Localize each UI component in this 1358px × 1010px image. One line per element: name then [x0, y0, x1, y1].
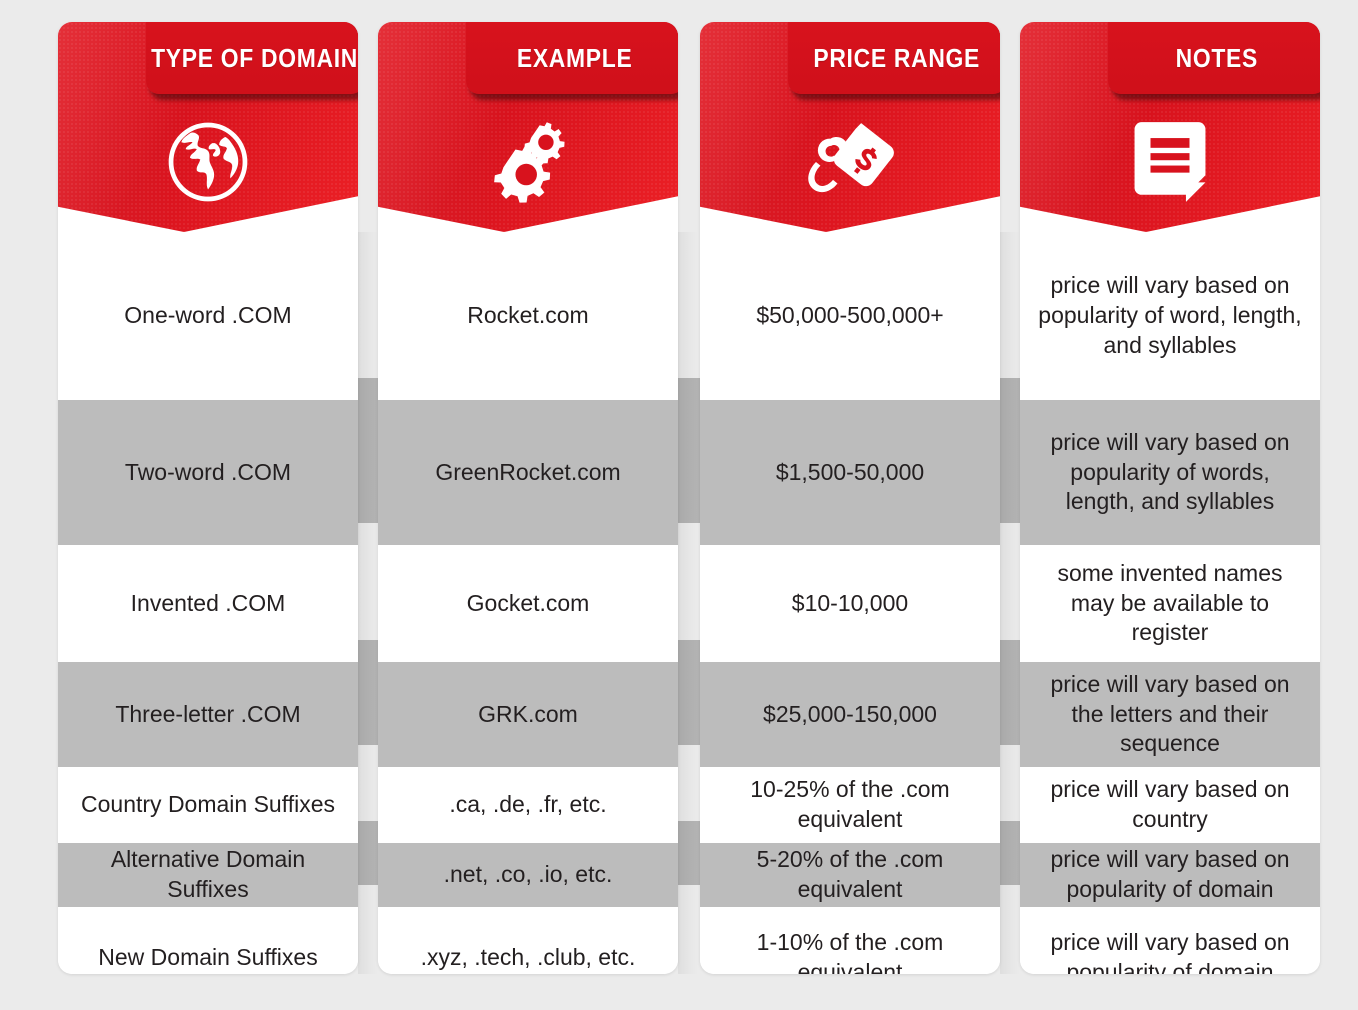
table-cell: Alternative Domain Suffixes — [58, 843, 358, 907]
table-cell: price will vary based on the letters and… — [1020, 662, 1320, 767]
column-cells-price-range: $50,000-500,000+ $1,500-50,000 $10-10,00… — [700, 232, 1000, 974]
table-cell: Country Domain Suffixes — [58, 767, 358, 843]
column-header-label: PRICE RANGE — [814, 43, 981, 74]
table-cell: price will vary based on popularity of w… — [1020, 232, 1320, 400]
column-notes: NOTES price will vary based on popularit… — [1020, 22, 1320, 974]
table-cell: $1,500-50,000 — [700, 400, 1000, 545]
table-cell: 10-25% of the .com equivalent — [700, 767, 1000, 843]
table-cell: price will vary based on popularity of d… — [1020, 907, 1320, 974]
column-cells-type-of-domain: One-word .COM Two-word .COM Invented .CO… — [58, 232, 358, 974]
column-price-range: PRICE RANGE $50,000-500,000+ $ — [700, 22, 1000, 974]
gears-icon — [378, 114, 678, 210]
table-cell: GRK.com — [378, 662, 678, 767]
table-cell: $10-10,000 — [700, 545, 1000, 662]
table-cell: .ca, .de, .fr, etc. — [378, 767, 678, 843]
table-cell: some invented names may be available to … — [1020, 545, 1320, 662]
table-cell: price will vary based on popularity of w… — [1020, 400, 1320, 545]
header-tab-notes: NOTES — [1108, 22, 1320, 94]
table-cell: price will vary based on country — [1020, 767, 1320, 843]
column-type-of-domain: TYPE OF DOMAIN One-word .COM Two-word .C… — [58, 22, 358, 974]
column-header-price-range: PRICE RANGE — [700, 22, 1000, 232]
table-cell: $50,000-500,000+ — [700, 232, 1000, 400]
table-cell: $25,000-150,000 — [700, 662, 1000, 767]
header-tab-type-of-domain: TYPE OF DOMAIN — [146, 22, 358, 94]
table-cell: Gocket.com — [378, 545, 678, 662]
table-cell: .net, .co, .io, etc. — [378, 843, 678, 907]
table-cell: New Domain Suffixes — [58, 907, 358, 974]
column-header-example: EXAMPLE — [378, 22, 678, 232]
table-cell: Invented .COM — [58, 545, 358, 662]
price-tag-dollar-icon — [700, 114, 1000, 210]
note-document-icon — [1020, 114, 1320, 210]
column-header-notes: NOTES — [1020, 22, 1320, 232]
table-cell: 5-20% of the .com equivalent — [700, 843, 1000, 907]
table-cell: GreenRocket.com — [378, 400, 678, 545]
table-cell: 1-10% of the .com equivalent — [700, 907, 1000, 974]
table-cell: .xyz, .tech, .club, etc. — [378, 907, 678, 974]
table-cell: price will vary based on popularity of d… — [1020, 843, 1320, 907]
globe-icon — [58, 114, 358, 210]
column-cells-notes: price will vary based on popularity of w… — [1020, 232, 1320, 974]
column-cells-example: Rocket.com GreenRocket.com Gocket.com GR… — [378, 232, 678, 974]
column-example: EXAMPLE Rocket.com GreenRocket.com Gocke… — [378, 22, 678, 974]
table-cell: Three-letter .COM — [58, 662, 358, 767]
column-header-label: NOTES — [1176, 43, 1258, 74]
column-header-type-of-domain: TYPE OF DOMAIN — [58, 22, 358, 232]
header-tab-price-range: PRICE RANGE — [788, 22, 1000, 94]
column-header-label: EXAMPLE — [517, 43, 633, 74]
table-cell: Two-word .COM — [58, 400, 358, 545]
table-cell: Rocket.com — [378, 232, 678, 400]
column-header-label: TYPE OF DOMAIN — [152, 43, 358, 74]
header-tab-example: EXAMPLE — [466, 22, 678, 94]
domain-pricing-infographic: TYPE OF DOMAIN One-word .COM Two-word .C… — [0, 0, 1358, 1010]
table-cell: One-word .COM — [58, 232, 358, 400]
